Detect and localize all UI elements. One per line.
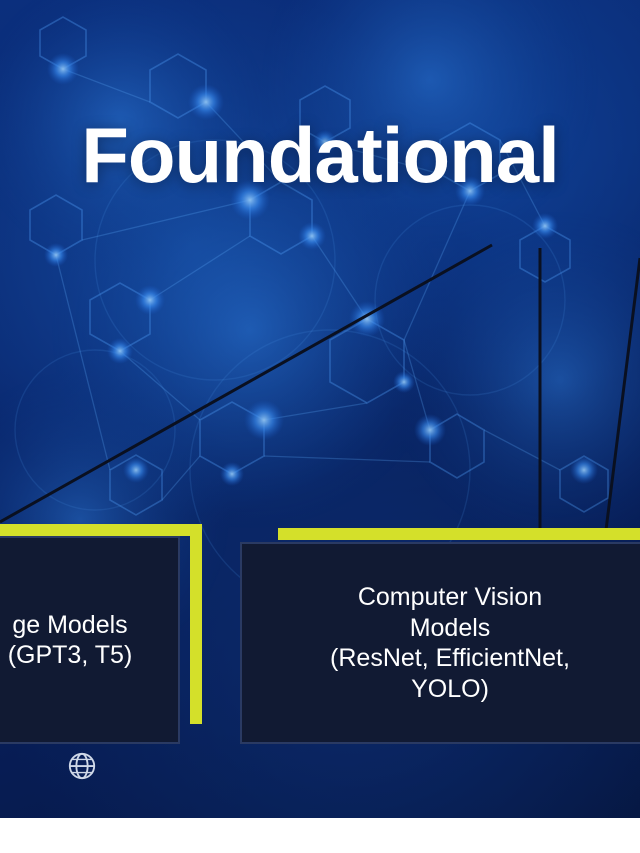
left-box-accent-right	[190, 524, 202, 724]
computer-vision-models-box[interactable]: Computer Vision Models (ResNet, Efficien…	[240, 542, 640, 744]
bottom-white-bar	[0, 818, 640, 853]
left-box-accent-top	[0, 524, 202, 536]
right-box-accent-top	[278, 528, 640, 540]
language-models-box[interactable]: ge Models (GPT3, T5)	[0, 536, 180, 744]
language-models-box-label: ge Models (GPT3, T5)	[2, 610, 139, 671]
globe-icon	[67, 751, 97, 781]
slide-background: Foundational ge Models (GPT3, T5) Comput…	[0, 0, 640, 818]
slide-canvas: Foundational ge Models (GPT3, T5) Comput…	[0, 0, 640, 853]
computer-vision-models-box-label: Computer Vision Models (ResNet, Efficien…	[324, 582, 576, 704]
